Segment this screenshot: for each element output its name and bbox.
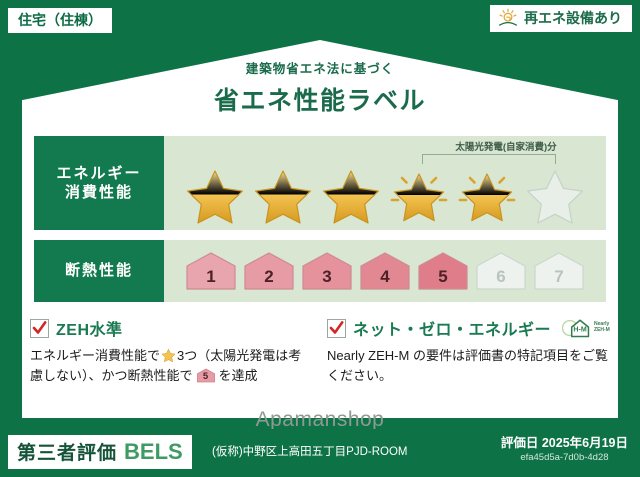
label-title: 建築物省エネ法に基づく 省エネ性能ラベル [0, 58, 640, 117]
criterion-net-zero-body: Nearly ZEH-M の要件は評価書の特記項目をご覧ください。 [327, 346, 610, 386]
energy-performance-label: 住宅（住棟） 再エネ設備あり 建築物省エネ法に基づく 省エネ性能ラベル [0, 0, 640, 477]
grade-scale: 1 2 3 4 5 [164, 250, 606, 292]
star-icon-pv [388, 166, 450, 226]
criterion-zeh: ZEH水準 エネルギー消費性能で3つ（太陽光発電は考慮しない）、かつ断熱性能で5… [30, 316, 313, 412]
insulation-performance-rating: 1 2 3 4 5 [164, 240, 606, 302]
star-icon [252, 166, 314, 226]
pv-annotation-bracket [422, 154, 556, 164]
evaluation-date: 評価日 2025年6月19日 [501, 435, 628, 451]
star-icon [184, 166, 246, 226]
star-icon-pv [456, 166, 518, 226]
bels-logo-text: BELS [124, 439, 183, 465]
criterion-net-zero: ネット・ゼロ・エネルギー H-M Nearly ZEH-M Nearly ZEH… [327, 316, 610, 412]
star-icon-inline [161, 348, 176, 363]
checkbox-checked-icon [30, 319, 49, 338]
building-type-label: 住宅（住棟） [18, 12, 102, 28]
criterion-zeh-title: ZEH水準 [56, 316, 123, 340]
bels-japanese-label: 第三者評価 [17, 438, 117, 465]
building-type-badge: 住宅（住棟） [8, 8, 112, 33]
property-name: (仮称)中野区上高田五丁目PJD-ROOM [212, 443, 408, 459]
criterion-zeh-body: エネルギー消費性能で3つ（太陽光発電は考慮しない）、かつ断熱性能で5を達成 [30, 346, 313, 386]
grade-badge: 2 [242, 250, 296, 292]
star-icon-empty [524, 166, 586, 226]
criterion-zeh-header: ZEH水準 [30, 316, 313, 340]
grade-badge: 1 [184, 250, 238, 292]
insulation-performance-row: 断熱性能 1 2 3 4 [34, 240, 606, 302]
star-icon [320, 166, 382, 226]
criterion-net-zero-header: ネット・ゼロ・エネルギー H-M Nearly ZEH-M [327, 316, 610, 340]
grade-badge-empty: 7 [532, 250, 586, 292]
grade-badge: 5 [416, 250, 470, 292]
grade-badge-empty: 6 [474, 250, 528, 292]
zeh-m-house-icon: H-M Nearly ZEH-M [562, 316, 610, 340]
renewable-energy-badge: 再エネ設備あり [490, 5, 632, 32]
energy-consumption-label: エネルギー 消費性能 [34, 136, 164, 230]
bels-badge: 第三者評価 BELS [8, 435, 192, 469]
grade-badge: 4 [358, 250, 412, 292]
zeh-logo-line2: ZEH-M [594, 327, 610, 333]
grade-badge: 3 [300, 250, 354, 292]
energy-consumption-row: エネルギー 消費性能 太陽光発電(自家消費)分 [34, 136, 606, 230]
pv-annotation-text: 太陽光発電(自家消費)分 [416, 139, 596, 153]
energy-consumption-rating: 太陽光発電(自家消費)分 [164, 136, 606, 230]
checkbox-checked-icon [327, 319, 346, 338]
insulation-performance-label: 断熱性能 [34, 240, 164, 302]
evaluation-id: efa45d5a-7d0b-4d28 [501, 451, 628, 464]
criterion-zeh-text-1: エネルギー消費性能で [30, 348, 160, 363]
star-rating [164, 166, 606, 226]
criteria-section: ZEH水準 エネルギー消費性能で3つ（太陽光発電は考慮しない）、かつ断熱性能で5… [30, 316, 610, 412]
title-subtitle: 建築物省エネ法に基づく [0, 58, 640, 77]
svg-text:H-M: H-M [573, 327, 586, 334]
evaluation-info: 評価日 2025年6月19日 efa45d5a-7d0b-4d28 [501, 435, 628, 465]
label-footer: 第三者評価 BELS (仮称)中野区上高田五丁目PJD-ROOM 評価日 202… [0, 429, 640, 477]
criterion-zeh-text-3: を達成 [219, 368, 258, 383]
sun-solar-icon [497, 8, 519, 28]
criterion-net-zero-title: ネット・ゼロ・エネルギー [353, 316, 551, 340]
title-main: 省エネ性能ラベル [0, 81, 640, 117]
grade-badge-inline: 5 [195, 368, 217, 383]
renewable-energy-label: 再エネ設備あり [524, 10, 622, 26]
